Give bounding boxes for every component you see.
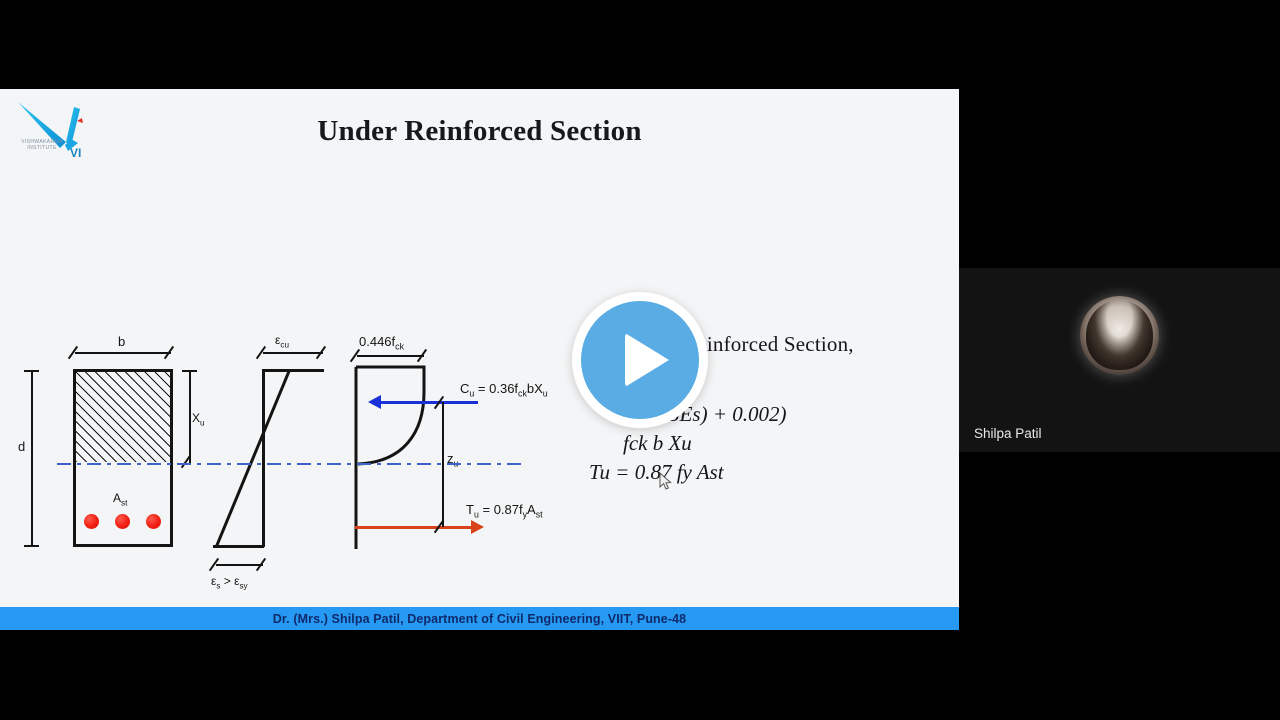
label-zu: zu bbox=[447, 451, 458, 469]
compression-force-arrow bbox=[378, 401, 478, 404]
svg-text:VI: VI bbox=[70, 146, 81, 160]
label-ecu: εcu bbox=[275, 333, 289, 349]
label-cu: Cu = 0.36fckbXu bbox=[460, 381, 548, 399]
label-b: b bbox=[118, 334, 125, 349]
tension-arrowhead-icon bbox=[471, 520, 484, 534]
strain-vertical-line bbox=[262, 369, 265, 547]
dim-tick bbox=[24, 370, 39, 372]
equation-line-3: fck b Xu bbox=[623, 429, 959, 458]
compression-zone-hatch bbox=[76, 372, 170, 462]
neutral-axis-line bbox=[57, 463, 527, 465]
dim-line-d bbox=[31, 371, 33, 546]
dim-line-xu bbox=[189, 371, 191, 463]
play-triangle-icon bbox=[625, 333, 669, 387]
dim-tick bbox=[24, 545, 39, 547]
rebar bbox=[84, 514, 99, 529]
slide-footer: Dr. (Mrs.) Shilpa Patil, Department of C… bbox=[0, 607, 959, 630]
rebar bbox=[146, 514, 161, 529]
dim-line-b bbox=[75, 352, 171, 354]
label-d: d bbox=[18, 439, 25, 454]
dim-line-es bbox=[216, 564, 263, 566]
rcc-beam-diagram: b Ast d Xu εcu bbox=[0, 239, 600, 579]
dim-line-ecu bbox=[263, 352, 323, 354]
rebar bbox=[115, 514, 130, 529]
strain-bottom-line bbox=[213, 545, 264, 548]
participant-tile[interactable]: Shilpa Patil bbox=[959, 268, 1280, 452]
video-call-screen: VI VISHWAKARMA INSTITUTE Under Reinforce… bbox=[0, 0, 1280, 720]
dim-tick bbox=[182, 370, 197, 372]
strain-diagonal-line bbox=[215, 370, 290, 547]
participant-name: Shilpa Patil bbox=[974, 426, 1042, 441]
play-icon bbox=[581, 301, 699, 419]
strain-top-line bbox=[262, 369, 324, 372]
shared-slide: VI VISHWAKARMA INSTITUTE Under Reinforce… bbox=[0, 89, 959, 630]
slide-footer-text: Dr. (Mrs.) Shilpa Patil, Department of C… bbox=[273, 612, 686, 626]
label-xu: Xu bbox=[192, 411, 205, 427]
label-ast: Ast bbox=[113, 491, 127, 507]
label-es-esy: εs > εsy bbox=[211, 574, 248, 590]
play-button[interactable] bbox=[572, 292, 708, 428]
avatar bbox=[1080, 296, 1159, 375]
compression-arrowhead-icon bbox=[368, 395, 381, 409]
page-title: Under Reinforced Section bbox=[0, 115, 959, 148]
avatar-hair bbox=[1086, 300, 1153, 370]
mouse-cursor bbox=[659, 472, 672, 491]
label-stress-value: 0.446fck bbox=[359, 334, 404, 352]
label-tu: Tu = 0.87fyAst bbox=[466, 502, 543, 520]
equation-line-4: Tu = 0.87 fy Ast bbox=[589, 458, 959, 487]
dim-line-stress bbox=[357, 355, 424, 357]
tension-force-arrow bbox=[355, 526, 473, 529]
